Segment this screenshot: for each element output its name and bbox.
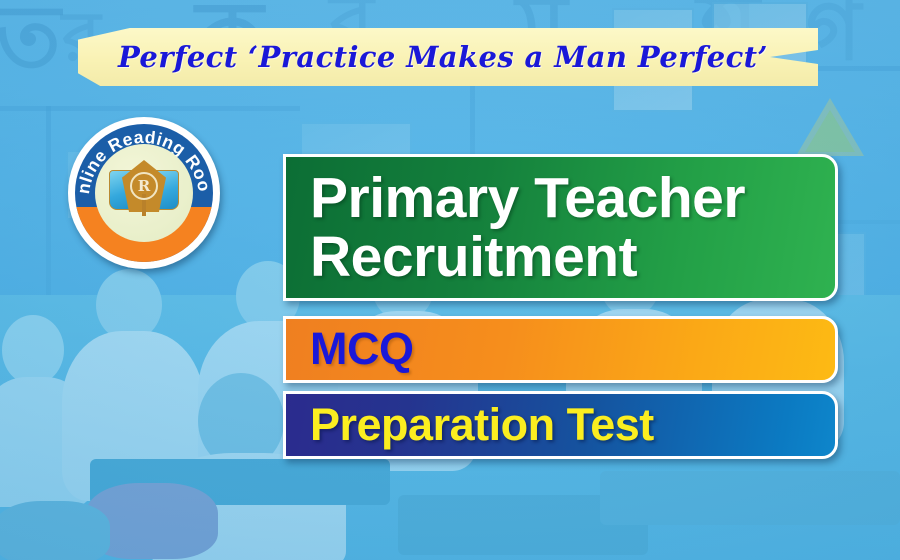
logo-monogram: R (130, 172, 158, 200)
logo-inner-disc: R (95, 144, 193, 242)
poster-root: ত র ক ব ম শ গ শিক (0, 0, 900, 560)
headline-primary-teacher-recruitment-label: Primary Teacher Recruitment (286, 169, 745, 286)
logo-badge[interactable]: Online Reading Room R (68, 117, 220, 269)
tagline-text: Perfect ‘Practice Makes a Man Perfect’ (118, 30, 818, 84)
headline-mcq[interactable]: MCQ (283, 316, 838, 383)
headline-preparation-test-label: Preparation Test (286, 402, 654, 448)
headline-preparation-test[interactable]: Preparation Test (283, 391, 838, 459)
headline-primary-teacher-recruitment[interactable]: Primary Teacher Recruitment (283, 154, 838, 301)
headline-mcq-label: MCQ (286, 326, 414, 372)
